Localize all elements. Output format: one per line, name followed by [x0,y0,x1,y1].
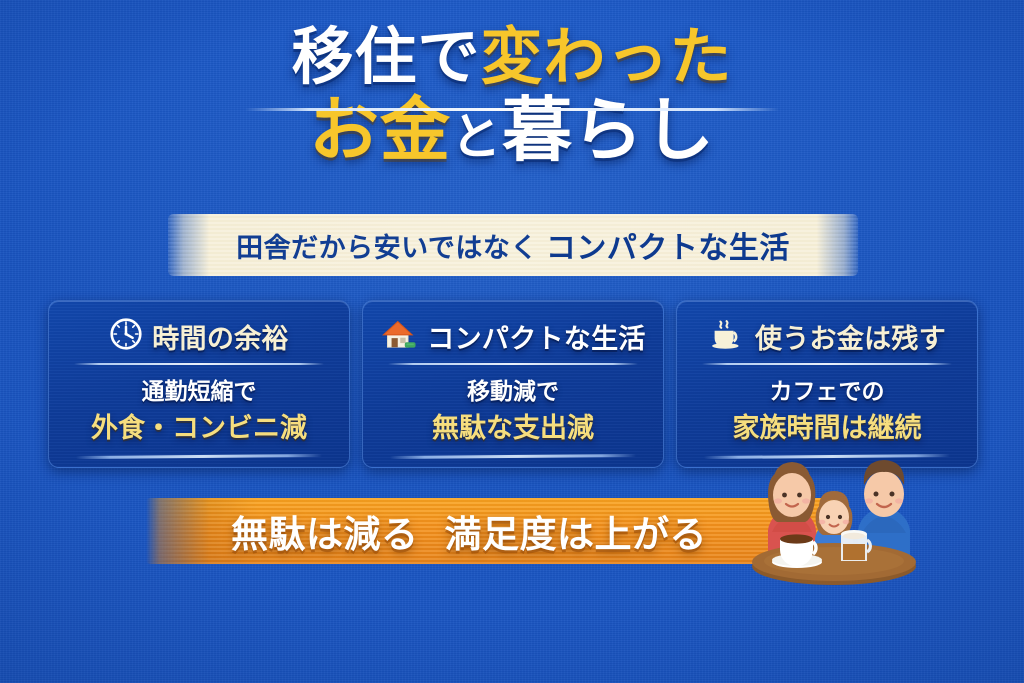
footer-banner-text-row: 無駄は減る 満足度は上がる [146,498,846,564]
card-body-line-1: 通勤短縮で [59,377,339,406]
footer-banner-right-text: 満足度は上がる [445,504,708,558]
benefit-card-time[interactable]: 時間の余裕 通勤短縮で 外食・コンビニ減 [48,300,350,468]
house-icon [380,317,418,356]
card-title: コンパクトな生活 [427,317,645,356]
card-underline-stroke [390,454,636,459]
card-body-line-2: 外食・コンビニ減 [59,411,339,446]
poster-canvas: 移住で変わった お金と暮らし 田舎だから安いではなく コンパクトな生活 [0,0,1024,683]
footer-banner-left-text: 無駄は減る [231,504,419,558]
clock-icon [109,317,143,356]
card-body: 通勤短縮で 外食・コンビニ減 [59,377,339,446]
headline-line-2: お金と暮らし [0,95,1024,166]
family-at-cafe-illustration [742,440,938,592]
iced-drink-glass [841,530,870,561]
headline-line1-white: 移住で [291,23,480,92]
subtitle-text: 田舎だから安いではなく [236,226,538,265]
headline-line2-yellow: お金 [309,91,451,169]
card-divider-rule [702,363,951,365]
card-body-line-2: 無駄な支出減 [373,411,653,446]
headline-divider-rule [245,108,779,111]
subtitle-text-row: 田舎だから安いではなく コンパクトな生活 [168,214,858,276]
card-header: コンパクトな生活 [373,315,653,357]
card-header: 使うお金は残す [687,315,967,357]
benefit-card-compact-life[interactable]: コンパクトな生活 移動減で 無駄な支出減 [362,300,664,468]
subtitle-banner: 田舎だから安いではなく コンパクトな生活 [168,214,858,276]
subtitle-accent-text: コンパクトな生活 [546,223,790,267]
headline-line2-particle: と [451,109,502,165]
coffee-cup-icon [708,317,746,356]
card-title: 使うお金は残す [755,317,946,356]
card-body: 移動減で 無駄な支出減 [373,377,653,446]
headline-line-1: 移住で変わった [0,26,1024,89]
card-body-line-1: 移動減で [373,377,653,406]
headline-line1-yellow: 変わった [481,23,733,92]
card-divider-rule [388,363,637,365]
card-header: 時間の余裕 [59,315,339,357]
card-underline-stroke [76,454,322,459]
card-title: 時間の余裕 [152,317,289,356]
card-body: カフェでの 家族時間は継続 [687,377,967,446]
card-body-line-1: カフェでの [687,377,967,406]
footer-banner: 無駄は減る 満足度は上がる [146,498,846,564]
headline-block: 移住で変わった お金と暮らし [0,26,1024,167]
card-divider-rule [74,363,323,365]
headline-line2-white: 暮らし [502,91,715,169]
